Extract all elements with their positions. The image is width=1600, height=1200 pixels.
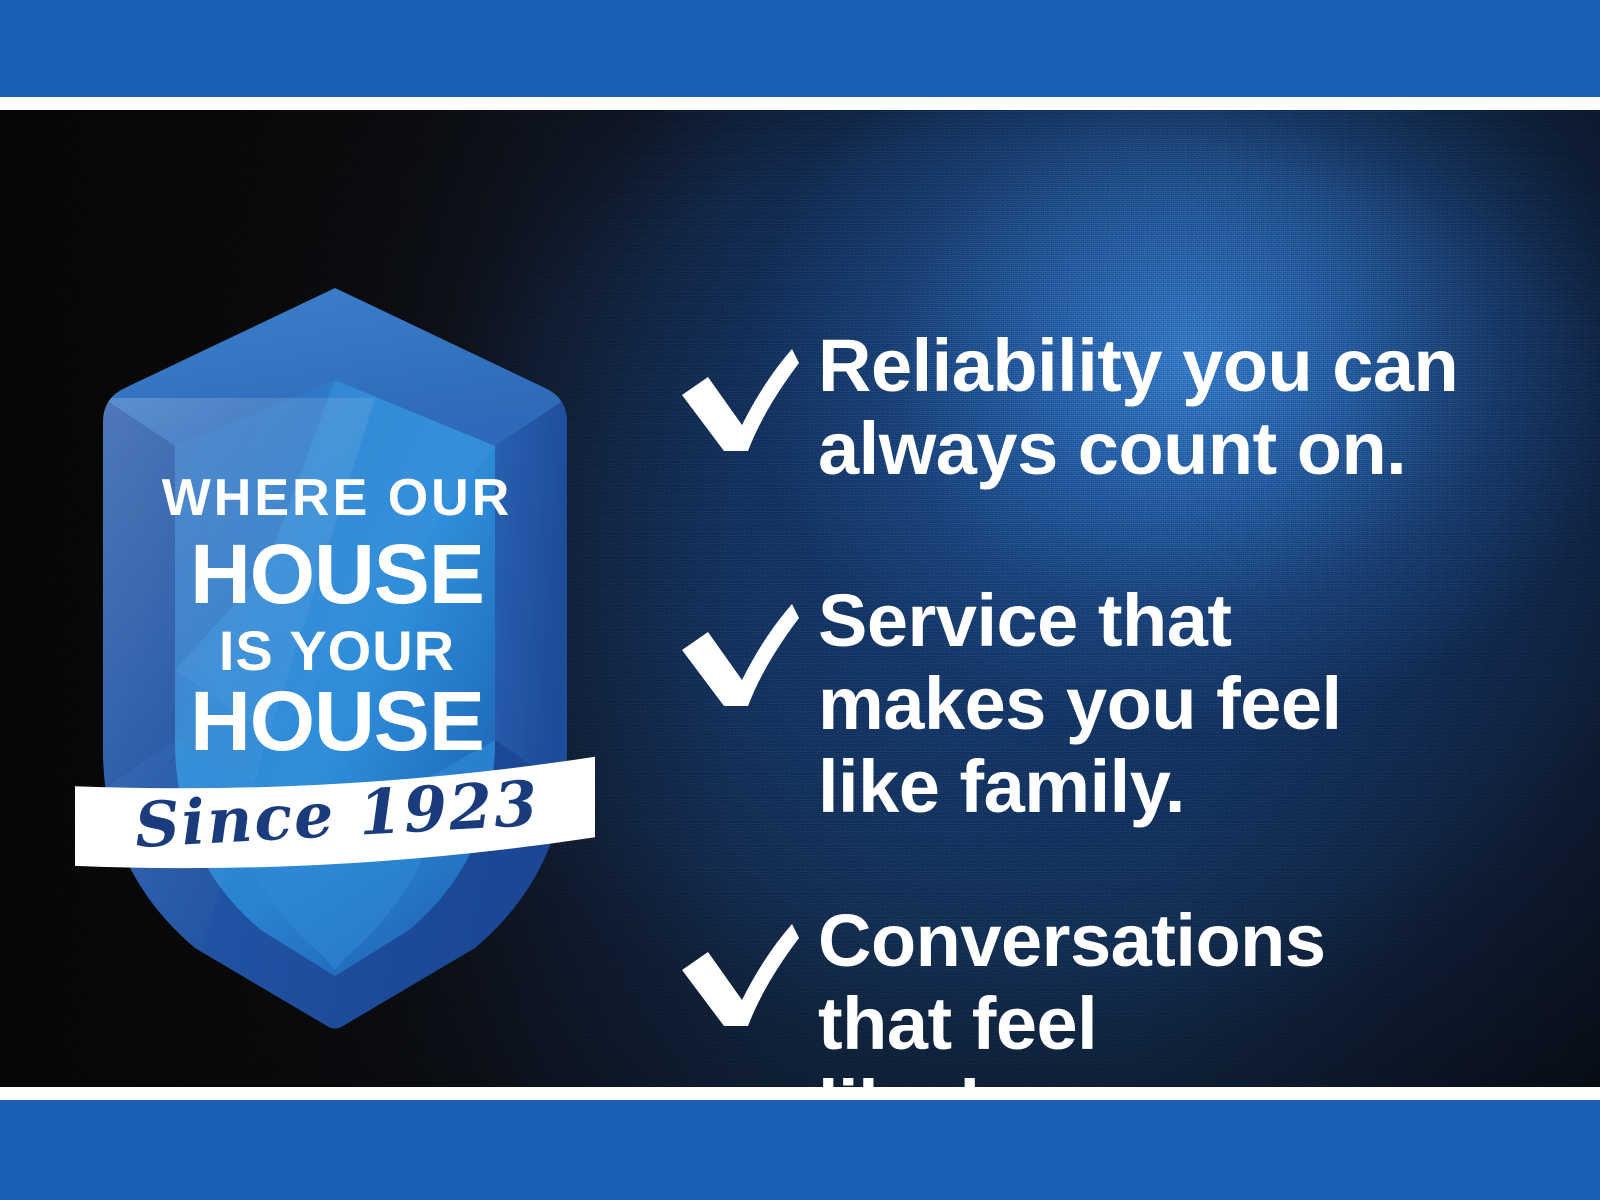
benefits-list: Reliability you can always count on. Ser… <box>668 220 1488 1087</box>
top-white-rule <box>0 97 1600 110</box>
benefit-text-1: Reliability you can always count on. <box>818 325 1488 491</box>
benefit-text-3: Conversations that feel like home. <box>818 900 1488 1087</box>
bottom-brand-band <box>0 1100 1600 1200</box>
main-stage: WHERE OUR HOUSE IS YOUR HOUSE Since 1923 <box>0 110 1600 1087</box>
benefit-item-2: Service that makes you feel like family. <box>668 580 1488 829</box>
promo-graphic-canvas: WHERE OUR HOUSE IS YOUR HOUSE Since 1923 <box>0 0 1600 1200</box>
logo-line-3: IS YOUR <box>219 619 455 682</box>
logo-line-1: WHERE OUR <box>162 469 513 527</box>
benefit-text-2: Service that makes you feel like family. <box>818 580 1488 829</box>
benefit-item-3: Conversations that feel like home. <box>668 900 1488 1087</box>
check-icon <box>668 325 818 451</box>
top-brand-band <box>0 0 1600 97</box>
bottom-white-rule <box>0 1087 1600 1100</box>
check-icon <box>668 580 818 706</box>
check-icon <box>668 900 818 1026</box>
logo-line-2: HOUSE <box>190 527 484 621</box>
logo-line-4: HOUSE <box>190 674 484 768</box>
benefit-item-1: Reliability you can always count on. <box>668 325 1488 491</box>
shield-logo: WHERE OUR HOUSE IS YOUR HOUSE Since 1923 <box>75 270 595 1050</box>
